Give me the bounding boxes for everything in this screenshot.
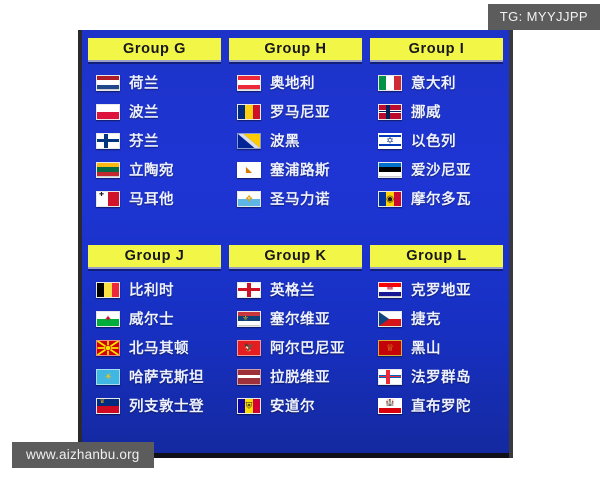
flag-liechtenstein-icon: ♛ xyxy=(96,398,120,414)
flag-romania-icon xyxy=(237,104,261,120)
team-name: 克罗地亚 xyxy=(411,279,471,300)
flag-italy-icon xyxy=(378,75,402,91)
group-title: Group J xyxy=(88,245,221,269)
flag-serbia-icon: ⚜ xyxy=(237,311,261,327)
group-team-list: 奥地利罗马尼亚波黑◣塞浦路斯❖圣马力诺 xyxy=(229,62,362,239)
flag-north-macedonia-icon xyxy=(96,340,120,356)
team-row: 荷兰 xyxy=(88,68,221,97)
team-row: 波黑 xyxy=(229,126,362,155)
team-name: 黑山 xyxy=(411,337,441,358)
group-title: Group H xyxy=(229,38,362,62)
team-name: 意大利 xyxy=(411,72,456,93)
flag-cyprus-icon: ◣ xyxy=(237,162,261,178)
team-row: 英格兰 xyxy=(229,275,362,304)
flag-san-marino-icon: ❖ xyxy=(237,191,261,207)
team-name: 拉脱维亚 xyxy=(270,366,330,387)
team-name: 荷兰 xyxy=(129,72,159,93)
team-row: 挪威 xyxy=(370,97,503,126)
group-card: Group G荷兰波兰芬兰立陶宛✚马耳他 xyxy=(88,38,221,239)
flag-latvia-icon xyxy=(237,369,261,385)
team-row: 拉脱维亚 xyxy=(229,362,362,391)
team-name: 法罗群岛 xyxy=(411,366,471,387)
flag-england-icon xyxy=(237,282,261,298)
group-card: Group K英格兰⚜塞尔维亚🦅阿尔巴尼亚拉脱维亚⛨安道尔 xyxy=(229,245,362,446)
team-name: 立陶宛 xyxy=(129,159,174,180)
team-row: ⛨安道尔 xyxy=(229,391,362,420)
team-row: 法罗群岛 xyxy=(370,362,503,391)
group-team-list: ▩克罗地亚捷克♕黑山法罗群岛🏰直布罗陀 xyxy=(370,269,503,446)
flag-estonia-icon xyxy=(378,162,402,178)
team-row: 🏰直布罗陀 xyxy=(370,391,503,420)
team-row: ♛列支敦士登 xyxy=(88,391,221,420)
team-name: 摩尔多瓦 xyxy=(411,188,471,209)
team-name: 塞尔维亚 xyxy=(270,308,330,329)
team-name: 芬兰 xyxy=(129,130,159,151)
group-title: Group G xyxy=(88,38,221,62)
flag-andorra-icon: ⛨ xyxy=(237,398,261,414)
team-row: ✚马耳他 xyxy=(88,184,221,213)
flag-croatia-icon: ▩ xyxy=(378,282,402,298)
flag-albania-icon: 🦅 xyxy=(237,340,261,356)
flag-finland-icon xyxy=(96,133,120,149)
team-row: 奥地利 xyxy=(229,68,362,97)
flag-wales-icon: ✦ xyxy=(96,311,120,327)
group-card: Group I意大利挪威✡以色列爱沙尼亚◉摩尔多瓦 xyxy=(370,38,503,239)
team-row: 罗马尼亚 xyxy=(229,97,362,126)
flag-kazakhstan-icon: ☀ xyxy=(96,369,120,385)
team-row: 比利时 xyxy=(88,275,221,304)
group-title: Group K xyxy=(229,245,362,269)
team-row: ⚜塞尔维亚 xyxy=(229,304,362,333)
team-name: 奥地利 xyxy=(270,72,315,93)
team-row: ✡以色列 xyxy=(370,126,503,155)
team-row: ◉摩尔多瓦 xyxy=(370,184,503,213)
team-name: 马耳他 xyxy=(129,188,174,209)
team-row: ◣塞浦路斯 xyxy=(229,155,362,184)
team-row: 🦅阿尔巴尼亚 xyxy=(229,333,362,362)
team-name: 列支敦士登 xyxy=(129,395,204,416)
flag-malta-icon: ✚ xyxy=(96,191,120,207)
group-card: Group H奥地利罗马尼亚波黑◣塞浦路斯❖圣马力诺 xyxy=(229,38,362,239)
group-team-list: 英格兰⚜塞尔维亚🦅阿尔巴尼亚拉脱维亚⛨安道尔 xyxy=(229,269,362,446)
team-name: 威尔士 xyxy=(129,308,174,329)
group-team-list: 荷兰波兰芬兰立陶宛✚马耳他 xyxy=(88,62,221,239)
team-name: 北马其顿 xyxy=(129,337,189,358)
team-name: 圣马力诺 xyxy=(270,188,330,209)
flag-poland-icon xyxy=(96,104,120,120)
flag-austria-icon xyxy=(237,75,261,91)
flag-montenegro-icon: ♕ xyxy=(378,340,402,356)
group-card: Group J比利时✦威尔士北马其顿☀哈萨克斯坦♛列支敦士登 xyxy=(88,245,221,446)
team-row: ❖圣马力诺 xyxy=(229,184,362,213)
team-name: 塞浦路斯 xyxy=(270,159,330,180)
team-row: 捷克 xyxy=(370,304,503,333)
team-row: 波兰 xyxy=(88,97,221,126)
flag-norway-icon xyxy=(378,104,402,120)
draw-board-panel: Group G荷兰波兰芬兰立陶宛✚马耳他Group H奥地利罗马尼亚波黑◣塞浦路… xyxy=(78,30,513,458)
team-name: 罗马尼亚 xyxy=(270,101,330,122)
team-name: 哈萨克斯坦 xyxy=(129,366,204,387)
team-row: 意大利 xyxy=(370,68,503,97)
team-name: 比利时 xyxy=(129,279,174,300)
flag-bosnia-icon xyxy=(237,133,261,149)
team-row: 立陶宛 xyxy=(88,155,221,184)
team-row: ♕黑山 xyxy=(370,333,503,362)
group-grid: Group G荷兰波兰芬兰立陶宛✚马耳他Group H奥地利罗马尼亚波黑◣塞浦路… xyxy=(82,30,509,458)
group-title: Group L xyxy=(370,245,503,269)
group-card: Group L▩克罗地亚捷克♕黑山法罗群岛🏰直布罗陀 xyxy=(370,245,503,446)
team-name: 阿尔巴尼亚 xyxy=(270,337,345,358)
team-name: 爱沙尼亚 xyxy=(411,159,471,180)
team-row: ☀哈萨克斯坦 xyxy=(88,362,221,391)
team-name: 捷克 xyxy=(411,308,441,329)
flag-czechia-icon xyxy=(378,311,402,327)
screenshot-root: Group G荷兰波兰芬兰立陶宛✚马耳他Group H奥地利罗马尼亚波黑◣塞浦路… xyxy=(0,0,600,480)
team-name: 安道尔 xyxy=(270,395,315,416)
tg-badge: TG: MYYJJPP xyxy=(488,4,600,30)
team-row: ▩克罗地亚 xyxy=(370,275,503,304)
team-name: 波兰 xyxy=(129,101,159,122)
team-name: 英格兰 xyxy=(270,279,315,300)
site-watermark: www.aizhanbu.org xyxy=(12,442,154,468)
group-team-list: 意大利挪威✡以色列爱沙尼亚◉摩尔多瓦 xyxy=(370,62,503,239)
flag-faroe-islands-icon xyxy=(378,369,402,385)
team-row: ✦威尔士 xyxy=(88,304,221,333)
flag-belgium-icon xyxy=(96,282,120,298)
team-row: 爱沙尼亚 xyxy=(370,155,503,184)
team-name: 波黑 xyxy=(270,130,300,151)
flag-moldova-icon: ◉ xyxy=(378,191,402,207)
flag-israel-icon: ✡ xyxy=(378,133,402,149)
flag-gibraltar-icon: 🏰 xyxy=(378,398,402,414)
group-title: Group I xyxy=(370,38,503,62)
flag-lithuania-icon xyxy=(96,162,120,178)
group-team-list: 比利时✦威尔士北马其顿☀哈萨克斯坦♛列支敦士登 xyxy=(88,269,221,446)
team-name: 直布罗陀 xyxy=(411,395,471,416)
flag-netherlands-icon xyxy=(96,75,120,91)
team-name: 挪威 xyxy=(411,101,441,122)
team-row: 北马其顿 xyxy=(88,333,221,362)
team-row: 芬兰 xyxy=(88,126,221,155)
team-name: 以色列 xyxy=(411,130,456,151)
